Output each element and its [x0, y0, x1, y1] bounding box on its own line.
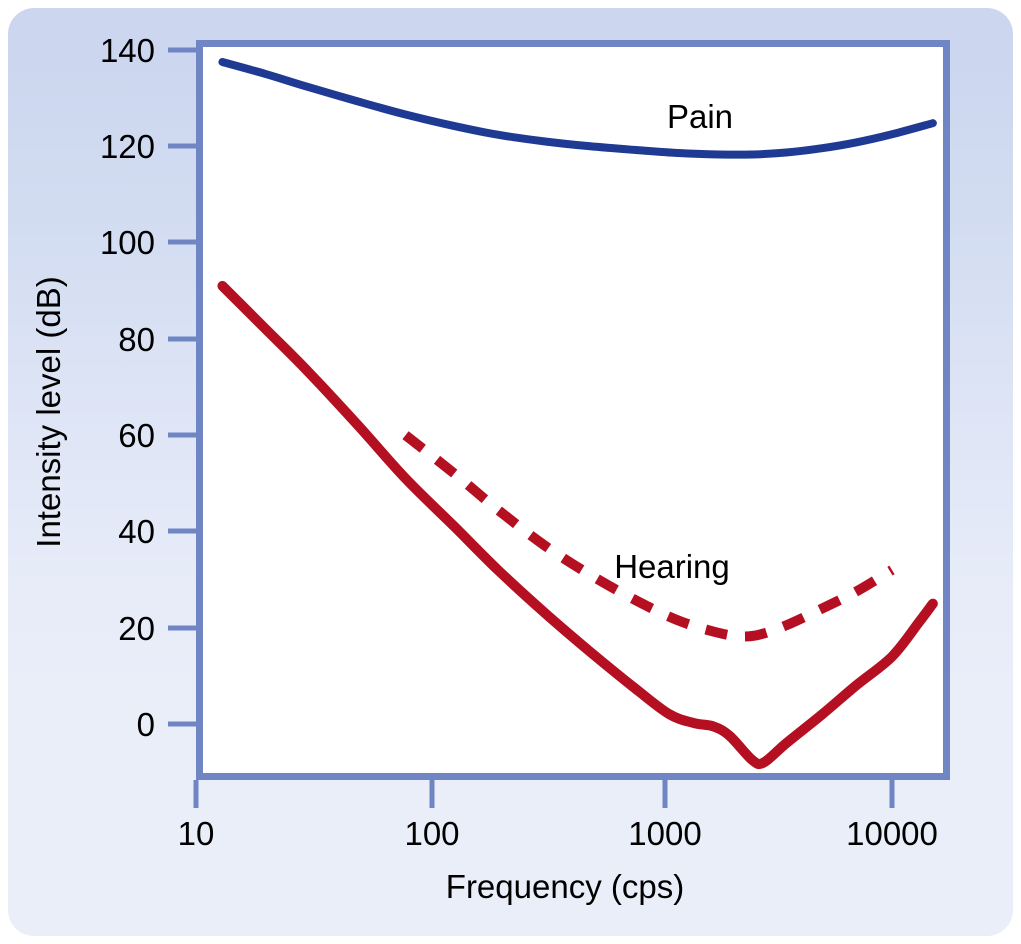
chart-figure: 140 120 100 80 60 40 20 0 10 100 1000 10…: [0, 0, 1021, 944]
x-axis-ticks: [196, 780, 892, 808]
series-label-pain: Pain: [667, 98, 733, 135]
y-tick-label-140: 140: [100, 32, 155, 69]
x-tick-label-100: 100: [404, 815, 459, 852]
y-tick-label-20: 20: [118, 610, 155, 647]
plot-area-background: [196, 40, 950, 780]
x-tick-label-10: 10: [178, 815, 215, 852]
x-tick-label-10000: 10000: [846, 815, 938, 852]
x-tick-label-1000: 1000: [628, 815, 701, 852]
x-axis-title: Frequency (cps): [446, 868, 684, 905]
chart-plot: 140 120 100 80 60 40 20 0 10 100 1000 10…: [0, 0, 1021, 944]
y-tick-label-60: 60: [118, 417, 155, 454]
series-label-hearing: Hearing: [614, 548, 730, 585]
y-tick-label-80: 80: [118, 321, 155, 358]
y-tick-label-120: 120: [100, 128, 155, 165]
y-tick-label-40: 40: [118, 513, 155, 550]
y-tick-label-0: 0: [137, 706, 155, 743]
y-tick-label-100: 100: [100, 224, 155, 261]
y-axis-ticks: [168, 50, 196, 724]
y-axis-title: Intensity level (dB): [30, 276, 67, 547]
